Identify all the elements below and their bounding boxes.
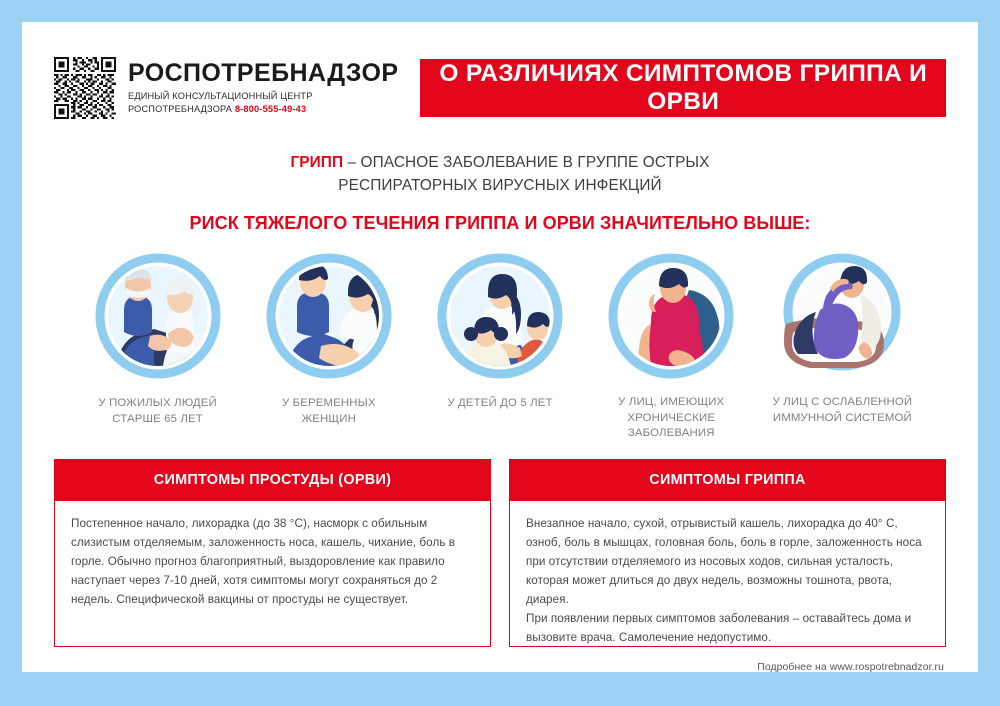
mother-with-children-illustration [422, 250, 578, 382]
flu-panel-header: СИМПТОМЫ ГРИППА [509, 459, 946, 501]
intro-emphasis: ГРИПП [290, 154, 343, 171]
consultation-center-info: ЕДИНЫЙ КОНСУЛЬТАЦИОННЫЙ ЦЕНТР РОСПОТРЕБН… [128, 90, 398, 116]
risk-group-caption: У ЛИЦ, ИМЕЮЩИХХРОНИЧЕСКИЕ ЗАБОЛЕВАНИЯ [586, 395, 757, 441]
risk-group-pregnant: У БЕРЕМЕННЫХЖЕНЩИН [243, 250, 414, 441]
organization-name: РОСПОТРЕБНАДЗОР [128, 60, 398, 86]
cold-panel-title: СИМПТОМЫ ПРОСТУДЫ (ОРВИ) [154, 472, 391, 488]
risk-group-children: У ДЕТЕЙ ДО 5 ЛЕТ [414, 250, 585, 441]
cold-symptoms-panel: СИМПТОМЫ ПРОСТУДЫ (ОРВИ) Постепенное нач… [54, 459, 491, 647]
risk-group-immune: У ЛИЦ С ОСЛАБЛЕННОЙИММУННОЙ СИСТЕМОЙ [757, 250, 928, 441]
poster-sheet: РОСПОТРЕБНАДЗОР ЕДИНЫЙ КОНСУЛЬТАЦИОННЫЙ … [22, 22, 978, 672]
cold-panel-header: СИМПТОМЫ ПРОСТУДЫ (ОРВИ) [54, 459, 491, 501]
intro-line-2: РЕСПИРАТОРНЫХ ВИРУСНЫХ ИНФЕКЦИЙ [54, 174, 946, 197]
risk-group-elderly: У ПОЖИЛЫХ ЛЮДЕЙСТАРШЕ 65 ЛЕТ [72, 250, 243, 441]
flu-symptoms-text: Внезапное начало, сухой, отрывистый каше… [526, 515, 929, 610]
intro-line-1-rest: – ОПАСНОЕ ЗАБОЛЕВАНИЕ В ГРУППЕ ОСТРЫХ [343, 154, 709, 171]
brand-text: РОСПОТРЕБНАДЗОР ЕДИНЫЙ КОНСУЛЬТАЦИОННЫЙ … [128, 60, 398, 116]
qr-code-icon [54, 57, 116, 119]
page-title: О РАЗЛИЧИЯХ СИМПТОМОВ ГРИППА И ОРВИ [420, 60, 946, 116]
title-banner: О РАЗЛИЧИЯХ СИМПТОМОВ ГРИППА И ОРВИ [420, 59, 946, 117]
pregnant-couple-illustration [251, 250, 407, 382]
risk-group-caption: У ПОЖИЛЫХ ЛЮДЕЙСТАРШЕ 65 ЛЕТ [72, 396, 243, 427]
risk-groups: У ПОЖИЛЫХ ЛЮДЕЙСТАРШЕ 65 ЛЕТ [54, 250, 946, 441]
risk-group-chronic: У ЛИЦ, ИМЕЮЩИХХРОНИЧЕСКИЕ ЗАБОЛЕВАНИЯ [586, 250, 757, 441]
elderly-couple-illustration [80, 250, 236, 382]
footer-note: Подробнее на www.rospotrebnadzor.ru [54, 662, 946, 673]
flu-panel-title: СИМПТОМЫ ГРИППА [649, 472, 805, 488]
symptom-panels: СИМПТОМЫ ПРОСТУДЫ (ОРВИ) Постепенное нач… [54, 459, 946, 647]
header: РОСПОТРЕБНАДЗОР ЕДИНЫЙ КОНСУЛЬТАЦИОННЫЙ … [54, 52, 946, 124]
person-weak-immunity-illustration [764, 250, 920, 382]
risk-group-caption: У БЕРЕМЕННЫХЖЕНЩИН [243, 396, 414, 427]
risk-group-caption: У ЛИЦ С ОСЛАБЛЕННОЙИММУННОЙ СИСТЕМОЙ [757, 395, 928, 426]
brand-block: РОСПОТРЕБНАДЗОР ЕДИНЫЙ КОНСУЛЬТАЦИОННЫЙ … [54, 52, 398, 124]
cold-symptoms-text: Постепенное начало, лихорадка (до 38 °С)… [71, 515, 474, 610]
consultation-center-line1: ЕДИНЫЙ КОНСУЛЬТАЦИОННЫЙ ЦЕНТР [128, 90, 398, 103]
flu-advice-text: При появлении первых симптомов заболеван… [526, 610, 929, 648]
flu-symptoms-panel: СИМПТОМЫ ГРИППА Внезапное начало, сухой,… [509, 459, 946, 647]
risk-group-caption: У ДЕТЕЙ ДО 5 ЛЕТ [414, 396, 585, 411]
cold-panel-body: Постепенное начало, лихорадка (до 38 °С)… [54, 501, 491, 647]
risk-heading: РИСК ТЯЖЕЛОГО ТЕЧЕНИЯ ГРИППА И ОРВИ ЗНАЧ… [54, 213, 946, 234]
poster-frame: РОСПОТРЕБНАДЗОР ЕДИНЫЙ КОНСУЛЬТАЦИОННЫЙ … [0, 0, 1000, 706]
intro-line-1: ГРИПП – ОПАСНОЕ ЗАБОЛЕВАНИЕ В ГРУППЕ ОСТ… [54, 151, 946, 174]
consultation-center-line2: РОСПОТРЕБНАДЗОРА 8-800-555-49-43 [128, 103, 398, 116]
person-with-chronic-illness-illustration [593, 250, 749, 382]
hotline-phone: 8-800-555-49-43 [235, 104, 306, 114]
flu-panel-body: Внезапное начало, сухой, отрывистый каше… [509, 501, 946, 647]
intro-block: ГРИПП – ОПАСНОЕ ЗАБОЛЕВАНИЕ В ГРУППЕ ОСТ… [54, 151, 946, 234]
